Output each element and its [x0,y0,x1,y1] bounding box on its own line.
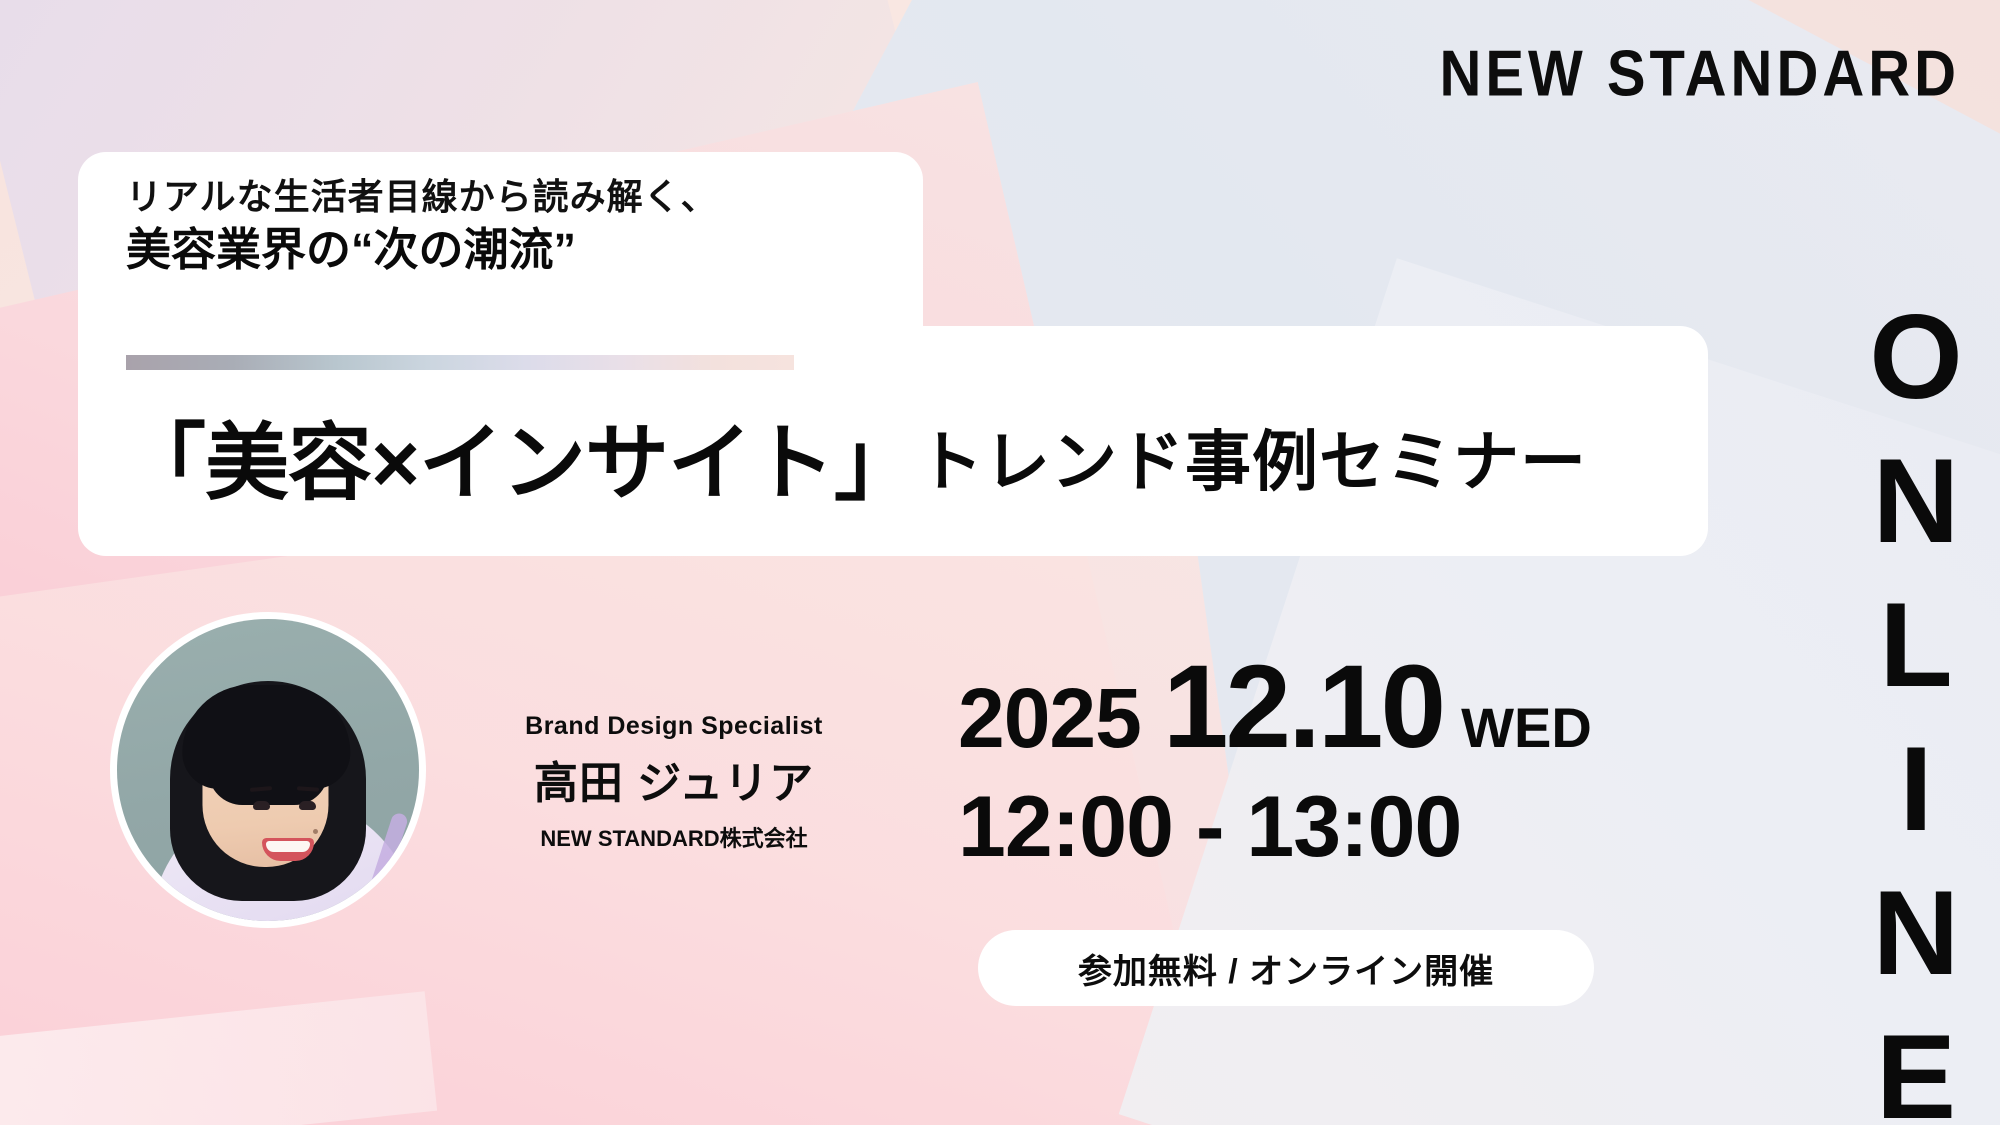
speaker-company: NEW STANDARD株式会社 [494,821,854,853]
subtitle-card: リアルな生活者目線から読み解く、 美容業界の“次の潮流” [78,152,923,292]
accent-underline [126,355,794,370]
speaker-avatar [110,612,426,928]
subtitle-line-2: 美容業界の“次の潮流” [126,221,923,280]
avatar-hair-fringe [182,685,350,789]
avatar-eye-left [253,801,270,810]
status-badge: 参加無料 / オンライン開催 [978,930,1594,1006]
event-time-range: 12:00 - 13:00 [958,784,1592,870]
speaker-info: Brand Design Specialist 高田 ジュリア NEW STAN… [494,712,854,853]
event-datetime: 202512.10WED 12:00 - 13:00 [958,648,1592,870]
brand-logo-text: NEW STANDARD [1439,37,1960,110]
title-main: 「美容×インサイト」 [122,416,917,510]
page-title: 「美容×インサイト」トレンド事例セミナー [122,396,1587,517]
seminar-poster: NEW STANDARD ONLINE リアルな生活者目線から読み解く、 美容業… [0,0,2000,1125]
status-badge-label: 参加無料 / オンライン開催 [1078,944,1494,993]
event-day-of-week: WED [1461,696,1592,759]
card-bridge [78,292,923,338]
event-year: 2025 [958,671,1141,765]
speaker-name: 高田 ジュリア [494,747,854,811]
avatar-cheek-mole [313,829,318,834]
subtitle-line-1: リアルな生活者目線から読み解く、 [126,174,923,219]
event-date-line: 202512.10WED [958,648,1592,766]
title-sub: トレンド事例セミナー [917,425,1587,499]
brand-logo: NEW STANDARD [1439,36,1960,111]
event-day: 12.10 [1163,641,1443,773]
avatar-eye-right [299,801,316,810]
speaker-role: Brand Design Specialist [494,712,854,741]
avatar-photo [117,619,419,921]
online-vertical-label: ONLINE [1856,290,1976,990]
